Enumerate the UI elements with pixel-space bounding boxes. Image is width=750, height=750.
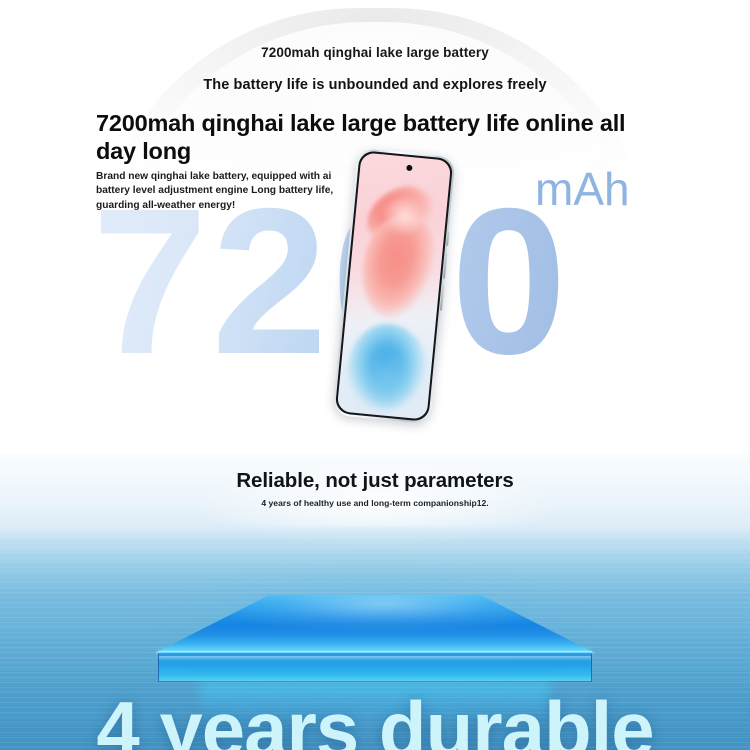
podium-side-highlight	[159, 656, 591, 661]
section-subtitle: 4 years of healthy use and long-term com…	[0, 498, 750, 508]
sky-backdrop	[0, 453, 750, 535]
watermark-unit-label: mAh	[535, 166, 630, 212]
phone-product-image	[332, 148, 455, 424]
eyebrow-text: 7200mah qinghai lake large battery	[0, 45, 750, 60]
battery-hero-section: 7200mah qinghai lake large battery The b…	[0, 0, 750, 453]
hero-headline: 4 years durable	[0, 690, 750, 750]
durability-hero-section: Reliable, not just parameters 4 years of…	[0, 453, 750, 750]
front-camera-icon	[406, 164, 413, 171]
glass-podium	[155, 595, 595, 685]
subhead-text: The battery life is unbounded and explor…	[0, 77, 750, 93]
podium-top-sheen	[155, 595, 595, 653]
promo-page: 7200mah qinghai lake large battery The b…	[0, 0, 750, 750]
spec-footnote-row: 10% ultra-high silicon content 880wh/l u…	[0, 424, 750, 452]
section-title: Reliable, not just parameters	[0, 469, 750, 493]
